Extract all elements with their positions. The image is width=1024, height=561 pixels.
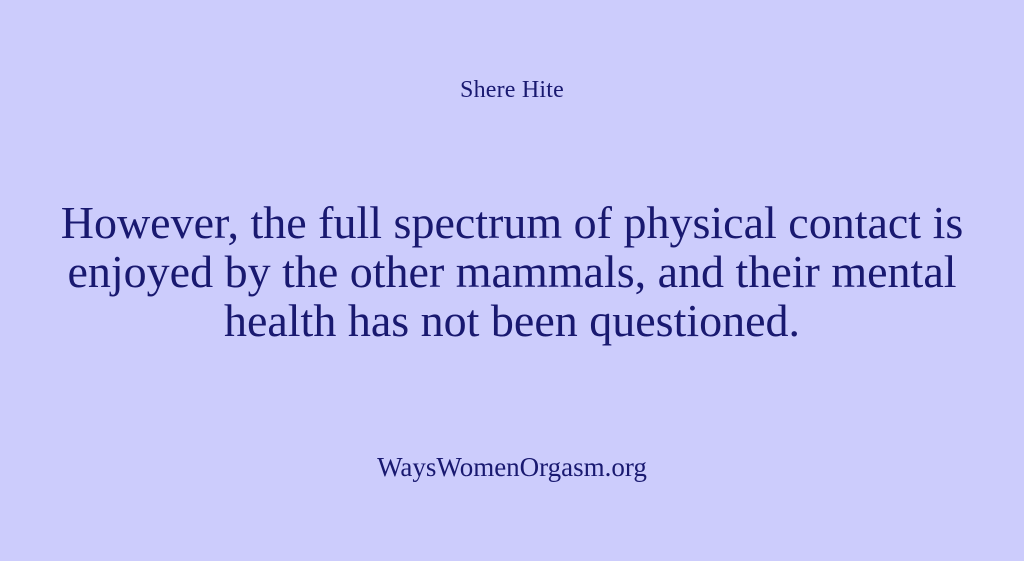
quote-line-1: However, the full spectrum of physical c… [32,198,992,247]
site-attribution: WaysWomenOrgasm.org [0,450,1024,484]
quote-card: Shere Hite However, the full spectrum of… [0,0,1024,561]
quote-line-2: enjoyed by the other mammals, and their … [32,247,992,296]
quote-text: However, the full spectrum of physical c… [32,198,992,345]
quote-author: Shere Hite [0,75,1024,105]
quote-line-3: health has not been questioned. [32,296,992,345]
